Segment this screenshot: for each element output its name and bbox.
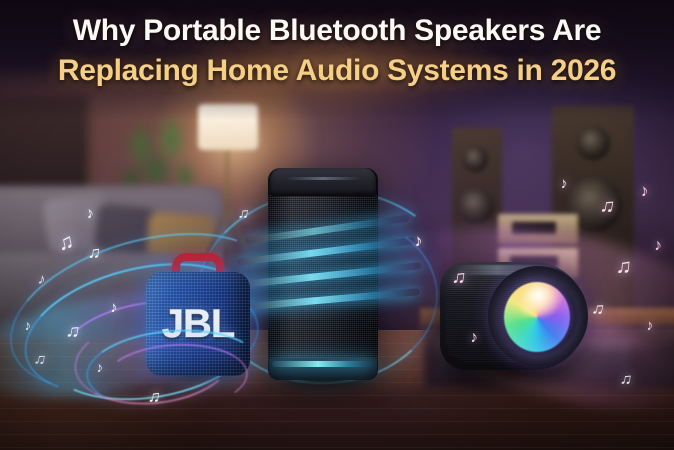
headline-line-1: Why Portable Bluetooth Speakers Are [0, 14, 674, 48]
headline-block: Why Portable Bluetooth Speakers Are Repl… [0, 14, 674, 88]
promo-banner: JBL ♫♪♫♪♫♪♫♪♫♪♫♪♫♪♫♪♫♪♫♪♫♪ Why Portable … [0, 0, 674, 450]
headline-line-2: Replacing Home Audio Systems in 2026 [0, 54, 674, 88]
